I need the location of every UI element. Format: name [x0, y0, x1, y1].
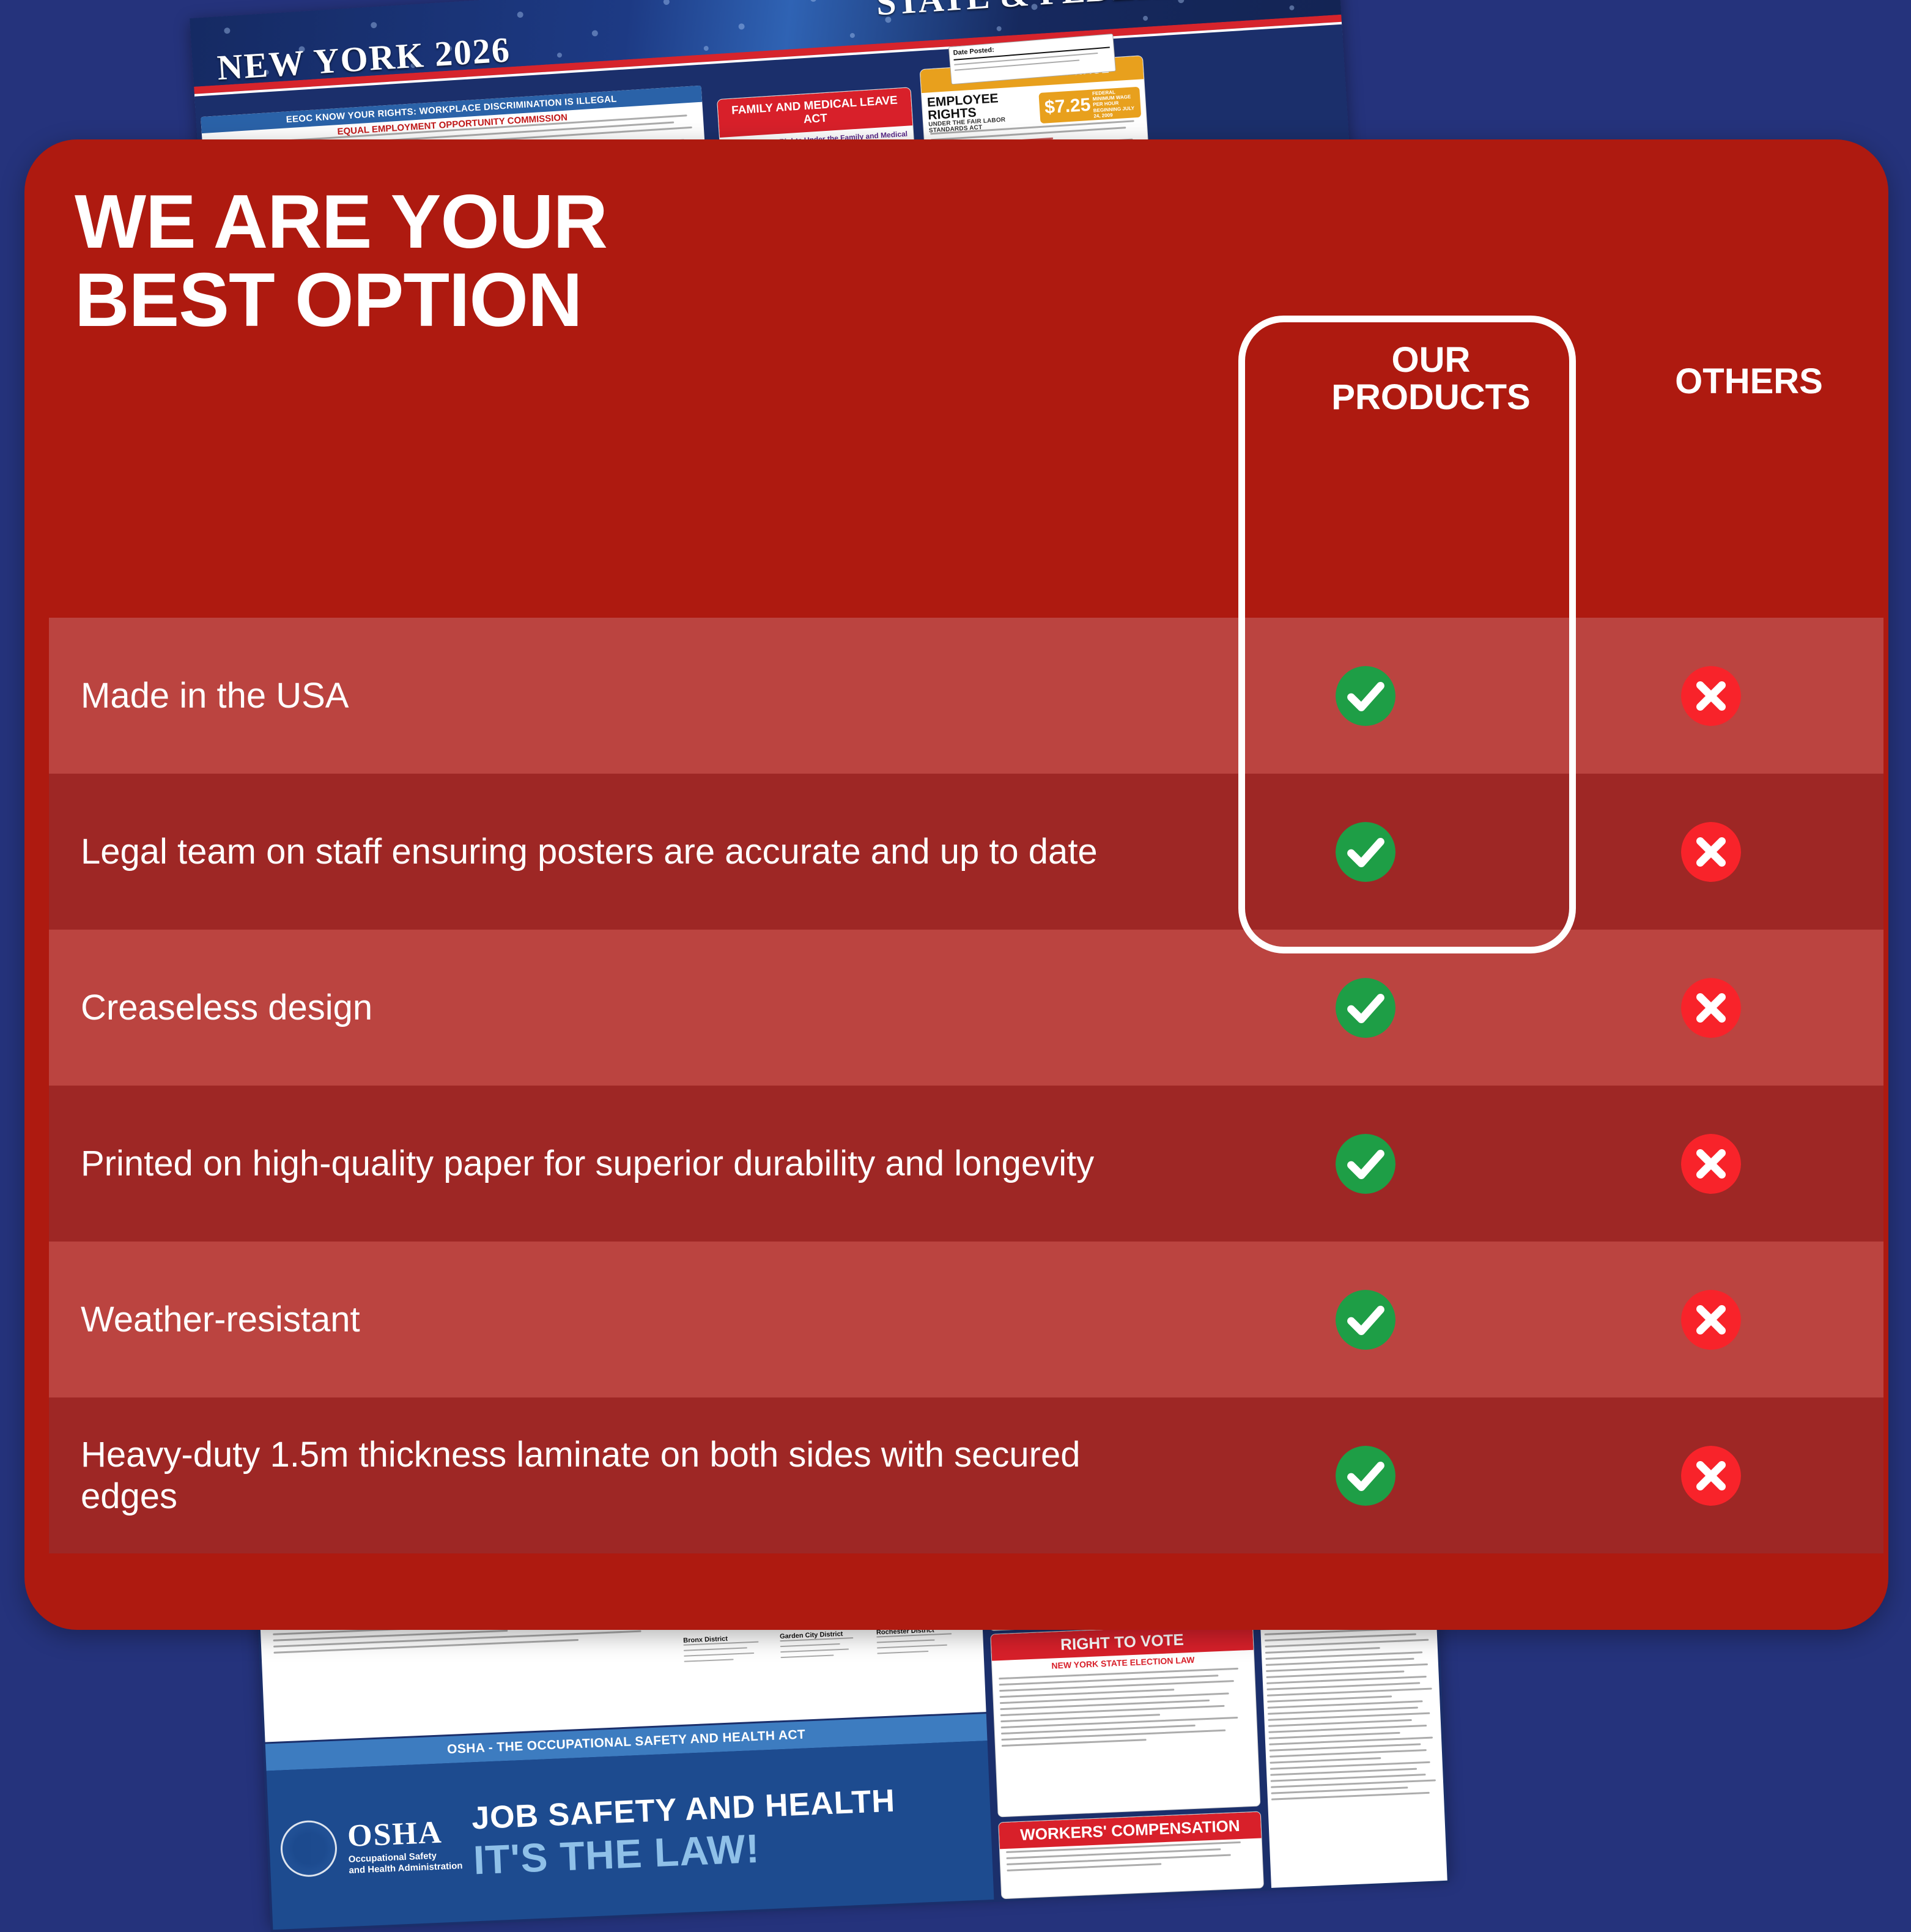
right-to-vote-body — [992, 1665, 1257, 1754]
cross-icon — [1681, 1290, 1741, 1350]
our-products-cell — [1192, 1134, 1538, 1194]
check-icon — [1336, 1290, 1395, 1350]
osha-wordmark: OSHA — [347, 1814, 462, 1855]
table-row: Creaseless design — [49, 930, 1883, 1086]
our-products-line-1: OUR — [1272, 341, 1590, 379]
others-cell — [1538, 666, 1883, 726]
page-title: WE ARE YOUR BEST OPTION — [75, 183, 882, 339]
check-icon — [1336, 1446, 1395, 1506]
headline-line-1: WE ARE YOUR — [75, 183, 882, 262]
comparison-card: WE ARE YOUR BEST OPTION OUR PRODUCTS OTH… — [24, 139, 1888, 1630]
check-icon — [1336, 666, 1395, 726]
list-item: Garden City District — [780, 1629, 867, 1662]
our-products-cell — [1192, 978, 1538, 1038]
feature-label: Made in the USA — [49, 675, 1192, 716]
column-header-others: OTHERS — [1614, 363, 1883, 400]
osha-panel: OSHA Occupational Safety and Health Admi… — [267, 1741, 994, 1930]
comparison-table: Made in the USALegal team on staff ensur… — [49, 618, 1883, 1553]
table-row: Legal team on staff ensuring posters are… — [49, 774, 1883, 930]
wage-note-3: BEGINNING JULY 24, 2009 — [1093, 105, 1137, 119]
table-row: Made in the USA — [49, 618, 1883, 774]
our-products-line-2: PRODUCTS — [1272, 379, 1590, 416]
osha-claim: JOB SAFETY AND HEALTH IT'S THE LAW! — [471, 1782, 898, 1883]
cross-icon — [1681, 978, 1741, 1038]
dol-seal-icon — [279, 1819, 338, 1878]
our-products-cell — [1192, 1446, 1538, 1506]
feature-label: Legal team on staff ensuring posters are… — [49, 831, 1192, 872]
table-row: Weather-resistant — [49, 1242, 1883, 1397]
cross-icon — [1681, 1446, 1741, 1506]
cross-icon — [1681, 666, 1741, 726]
feature-label: Printed on high-quality paper for superi… — [49, 1143, 1192, 1184]
list-item: Rochester District — [876, 1626, 963, 1659]
workers-comp-panel: WORKERS' COMPENSATION — [998, 1811, 1264, 1899]
feature-label: Heavy-duty 1.5m thickness laminate on bo… — [49, 1434, 1192, 1517]
minimum-wage-badge: $7.25 FEDERAL MINIMUM WAGE PER HOUR BEGI… — [1039, 87, 1141, 124]
others-cell — [1538, 822, 1883, 882]
our-products-cell — [1192, 822, 1538, 882]
table-row: Printed on high-quality paper for superi… — [49, 1086, 1883, 1242]
column-header-our-products: OUR PRODUCTS — [1272, 341, 1590, 416]
list-item: Bronx District — [683, 1634, 770, 1667]
our-products-cell — [1192, 666, 1538, 726]
feature-label: Creaseless design — [49, 987, 1192, 1028]
others-cell — [1538, 1290, 1883, 1350]
headline-line-2: BEST OPTION — [75, 262, 882, 340]
right-to-vote-panel: RIGHT TO VOTE NEW YORK STATE ELECTION LA… — [990, 1623, 1260, 1818]
others-cell — [1538, 978, 1883, 1038]
others-cell — [1538, 1134, 1883, 1194]
wage-amount: $7.25 — [1044, 95, 1091, 119]
others-cell — [1538, 1446, 1883, 1506]
check-icon — [1336, 1134, 1395, 1194]
check-icon — [1336, 978, 1395, 1038]
cross-icon — [1681, 1134, 1741, 1194]
cross-icon — [1681, 822, 1741, 882]
feature-label: Weather-resistant — [49, 1299, 1192, 1340]
check-icon — [1336, 822, 1395, 882]
table-row: Heavy-duty 1.5m thickness laminate on bo… — [49, 1397, 1883, 1553]
our-products-cell — [1192, 1290, 1538, 1350]
osha-logo: OSHA Occupational Safety and Health Admi… — [347, 1814, 463, 1876]
